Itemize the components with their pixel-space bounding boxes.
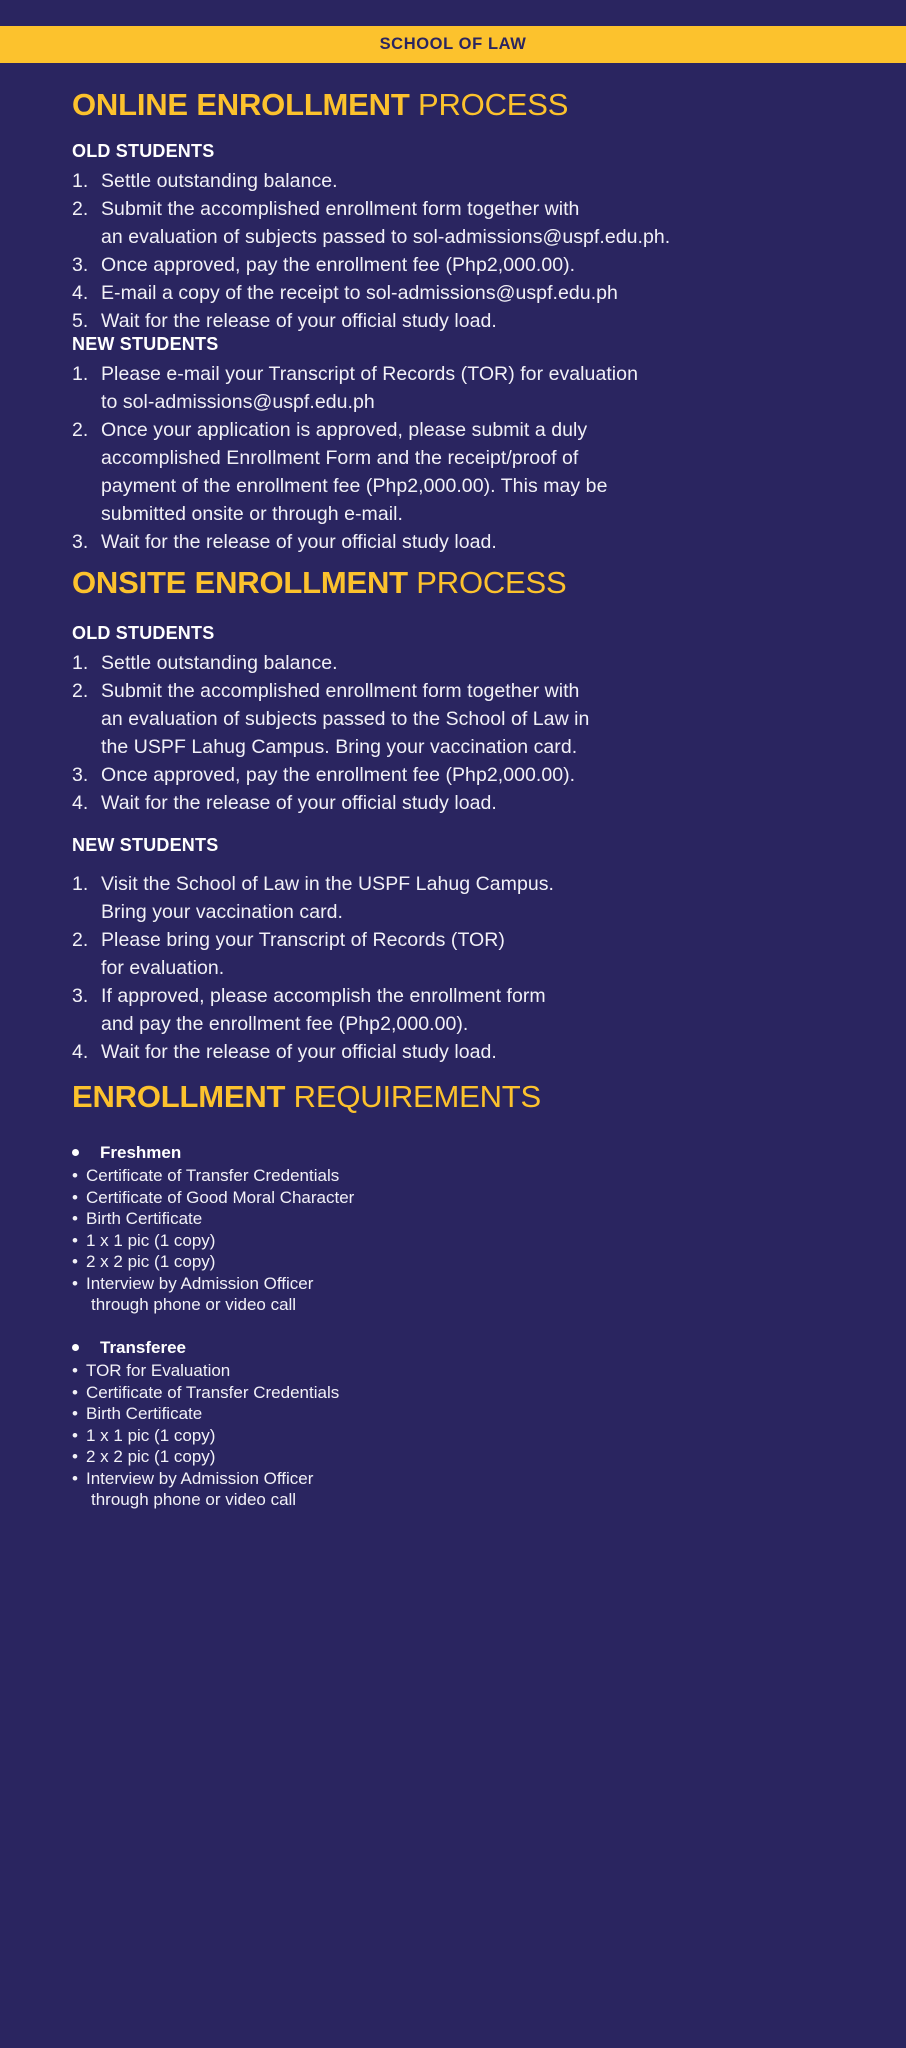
section-title-onsite-light: PROCESS (408, 565, 567, 600)
section-title-requirements: ENROLLMENT REQUIREMENTS (72, 1081, 870, 1114)
step-text-line: Once your application is approved, pleas… (101, 416, 870, 444)
requirement-item: •Certificate of Good Moral Character (72, 1187, 906, 1209)
requirement-item: •Birth Certificate (72, 1208, 906, 1230)
banner-title: SCHOOL OF LAW (380, 35, 527, 54)
step-number: 4. (72, 789, 96, 817)
online-old-students-heading: OLD STUDENTS (0, 141, 906, 162)
step-number: 1. (72, 649, 96, 677)
step-text-line: and pay the enrollment fee (Php2,000.00)… (101, 1010, 870, 1038)
requirement-text: 2 x 2 pic (1 copy) (86, 1252, 215, 1271)
section-title-online: ONLINE ENROLLMENT PROCESS (72, 89, 870, 122)
step-text-line: an evaluation of subjects passed to sol-… (101, 223, 870, 251)
step-number: 1. (72, 870, 96, 898)
requirements-group-transferee: Transferee •TOR for Evaluation•Certifica… (0, 1335, 906, 1511)
bullet-icon: • (72, 1446, 78, 1468)
step-text-line: Once approved, pay the enrollment fee (P… (101, 761, 870, 789)
requirement-subtext: through phone or video call (86, 1489, 906, 1511)
onsite-new-students-steps: 1.Visit the School of Law in the USPF La… (0, 870, 906, 1066)
requirements-group-freshmen: Freshmen •Certificate of Transfer Creden… (0, 1140, 906, 1316)
step-text-line: to sol-admissions@uspf.edu.ph (101, 388, 870, 416)
onsite-old-students-heading: OLD STUDENTS (0, 623, 906, 644)
step-item: 4.Wait for the release of your official … (72, 789, 870, 817)
requirement-text: Interview by Admission Officer (86, 1274, 313, 1293)
requirement-text: Birth Certificate (86, 1404, 202, 1423)
step-number: 4. (72, 1038, 96, 1066)
step-list: 1.Settle outstanding balance.2.Submit th… (72, 649, 870, 817)
bullet-icon: • (72, 1468, 78, 1490)
bullet-icon (72, 1344, 79, 1351)
section-title-onsite-strong: ONSITE ENROLLMENT (72, 565, 408, 600)
step-item: 3.Wait for the release of your official … (72, 528, 870, 556)
requirement-item: •2 x 2 pic (1 copy) (72, 1251, 906, 1273)
step-item: 5.Wait for the release of your official … (72, 307, 870, 335)
step-item: 3.If approved, please accomplish the enr… (72, 982, 870, 1038)
step-number: 5. (72, 307, 96, 335)
bullet-icon: • (72, 1208, 78, 1230)
step-text-line: for evaluation. (101, 954, 870, 982)
step-text-line: Submit the accomplished enrollment form … (101, 677, 870, 705)
step-text-line: Please e-mail your Transcript of Records… (101, 360, 870, 388)
step-number: 3. (72, 528, 96, 556)
onsite-new-students-heading: NEW STUDENTS (0, 835, 906, 856)
requirement-text: 1 x 1 pic (1 copy) (86, 1426, 215, 1445)
step-text-line: If approved, please accomplish the enrol… (101, 982, 870, 1010)
step-number: 3. (72, 251, 96, 279)
step-text-line: Visit the School of Law in the USPF Lahu… (101, 870, 870, 898)
section-onsite-enrollment: ONSITE ENROLLMENT PROCESS (0, 567, 906, 600)
step-number: 3. (72, 982, 96, 1010)
step-item: 4.Wait for the release of your official … (72, 1038, 870, 1066)
step-text-line: Settle outstanding balance. (101, 167, 870, 195)
bullet-icon: • (72, 1273, 78, 1295)
step-text-line: E-mail a copy of the receipt to sol-admi… (101, 279, 870, 307)
step-number: 2. (72, 677, 96, 705)
requirement-text: 2 x 2 pic (1 copy) (86, 1447, 215, 1466)
step-item: 2.Please bring your Transcript of Record… (72, 926, 870, 982)
requirement-subtext: through phone or video call (86, 1294, 906, 1316)
requirement-item: •1 x 1 pic (1 copy) (72, 1425, 906, 1447)
bullet-icon: • (72, 1251, 78, 1273)
section-title-online-strong: ONLINE ENROLLMENT (72, 87, 410, 122)
step-text-line: Please bring your Transcript of Records … (101, 926, 870, 954)
step-text-line: an evaluation of subjects passed to the … (101, 705, 870, 733)
step-number: 2. (72, 416, 96, 444)
requirement-text: Certificate of Transfer Credentials (86, 1166, 339, 1185)
requirement-text: Certificate of Transfer Credentials (86, 1383, 339, 1402)
bullet-icon: • (72, 1187, 78, 1209)
requirement-item: •Interview by Admission Officerthrough p… (72, 1273, 906, 1316)
step-text-line: Once approved, pay the enrollment fee (P… (101, 251, 870, 279)
requirement-item: •TOR for Evaluation (72, 1360, 906, 1382)
requirements-group-label: Transferee (100, 1338, 186, 1357)
requirements-group-title: Freshmen (72, 1140, 906, 1165)
step-text-line: Bring your vaccination card. (101, 898, 870, 926)
section-title-onsite: ONSITE ENROLLMENT PROCESS (72, 567, 870, 600)
group-title: NEW STUDENTS (72, 334, 870, 355)
bullet-icon: • (72, 1382, 78, 1404)
step-text-line: payment of the enrollment fee (Php2,000.… (101, 472, 870, 500)
step-number: 1. (72, 167, 96, 195)
step-text-line: Submit the accomplished enrollment form … (101, 195, 870, 223)
step-item: 1.Please e-mail your Transcript of Recor… (72, 360, 870, 416)
step-number: 2. (72, 195, 96, 223)
requirement-list: •TOR for Evaluation•Certificate of Trans… (72, 1360, 906, 1511)
section-enrollment-requirements: ENROLLMENT REQUIREMENTS (0, 1081, 906, 1114)
bullet-icon: • (72, 1403, 78, 1425)
step-item: 1.Settle outstanding balance. (72, 649, 870, 677)
requirement-text: Interview by Admission Officer (86, 1469, 313, 1488)
group-title: OLD STUDENTS (72, 141, 870, 162)
step-text-line: Wait for the release of your official st… (101, 307, 870, 335)
group-title: OLD STUDENTS (72, 623, 870, 644)
requirements-group-title: Transferee (72, 1335, 906, 1360)
step-item: 3.Once approved, pay the enrollment fee … (72, 761, 870, 789)
requirement-item: •1 x 1 pic (1 copy) (72, 1230, 906, 1252)
step-number: 2. (72, 926, 96, 954)
bullet-icon: • (72, 1425, 78, 1447)
step-item: 2.Submit the accomplished enrollment for… (72, 195, 870, 251)
bullet-icon: • (72, 1360, 78, 1382)
step-text-line: accomplished Enrollment Form and the rec… (101, 444, 870, 472)
step-list: 1.Please e-mail your Transcript of Recor… (72, 360, 870, 556)
requirement-text: Birth Certificate (86, 1209, 202, 1228)
school-banner: SCHOOL OF LAW (0, 26, 906, 63)
step-item: 2.Submit the accomplished enrollment for… (72, 677, 870, 761)
requirement-item: •Birth Certificate (72, 1403, 906, 1425)
section-title-requirements-light: REQUIREMENTS (285, 1079, 541, 1114)
step-list: 1.Visit the School of Law in the USPF La… (72, 870, 870, 1066)
requirement-item: •Certificate of Transfer Credentials (72, 1165, 906, 1187)
online-new-students-steps: 1.Please e-mail your Transcript of Recor… (0, 360, 906, 556)
requirement-text: Certificate of Good Moral Character (86, 1188, 354, 1207)
step-text-line: Wait for the release of your official st… (101, 528, 870, 556)
section-title-online-light: PROCESS (410, 87, 569, 122)
section-online-enrollment: ONLINE ENROLLMENT PROCESS (0, 89, 906, 122)
group-title: NEW STUDENTS (72, 835, 870, 856)
step-item: 1.Settle outstanding balance. (72, 167, 870, 195)
step-text-line: Settle outstanding balance. (101, 649, 870, 677)
step-item: 2.Once your application is approved, ple… (72, 416, 870, 528)
online-old-students-steps: 1.Settle outstanding balance.2.Submit th… (0, 167, 906, 335)
bullet-icon: • (72, 1165, 78, 1187)
bullet-icon: • (72, 1230, 78, 1252)
onsite-old-students-steps: 1.Settle outstanding balance.2.Submit th… (0, 649, 906, 817)
requirement-item: •Certificate of Transfer Credentials (72, 1382, 906, 1404)
online-new-students-heading: NEW STUDENTS (0, 334, 906, 355)
step-list: 1.Settle outstanding balance.2.Submit th… (72, 167, 870, 335)
step-item: 4.E-mail a copy of the receipt to sol-ad… (72, 279, 870, 307)
step-number: 1. (72, 360, 96, 388)
bullet-icon (72, 1149, 79, 1156)
requirements-group-label: Freshmen (100, 1143, 181, 1162)
step-text-line: submitted onsite or through e-mail. (101, 500, 870, 528)
step-text-line: Wait for the release of your official st… (101, 1038, 870, 1066)
requirement-item: •2 x 2 pic (1 copy) (72, 1446, 906, 1468)
step-item: 3.Once approved, pay the enrollment fee … (72, 251, 870, 279)
requirement-list: •Certificate of Transfer Credentials•Cer… (72, 1165, 906, 1316)
step-number: 4. (72, 279, 96, 307)
requirement-text: 1 x 1 pic (1 copy) (86, 1231, 215, 1250)
step-item: 1.Visit the School of Law in the USPF La… (72, 870, 870, 926)
section-title-requirements-strong: ENROLLMENT (72, 1079, 285, 1114)
step-number: 3. (72, 761, 96, 789)
requirement-item: •Interview by Admission Officerthrough p… (72, 1468, 906, 1511)
step-text-line: Wait for the release of your official st… (101, 789, 870, 817)
requirement-text: TOR for Evaluation (86, 1361, 230, 1380)
step-text-line: the USPF Lahug Campus. Bring your vaccin… (101, 733, 870, 761)
